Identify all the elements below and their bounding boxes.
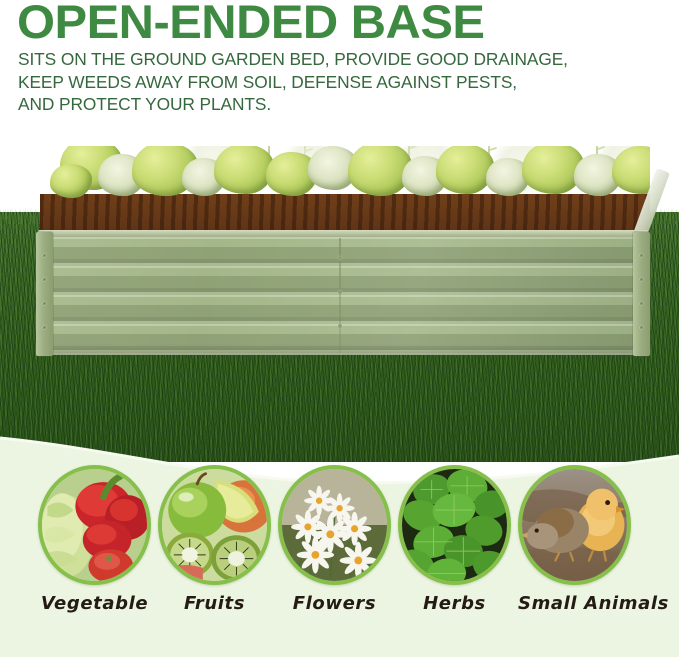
raised-garden-bed — [36, 230, 650, 360]
plant-foliage — [40, 146, 650, 236]
use-label: Vegetable — [38, 593, 151, 614]
uses-badge-row: Vegetable — [0, 465, 679, 657]
use-label: Fruits — [158, 593, 271, 614]
use-label: Herbs — [398, 593, 511, 614]
uses-panel: Vegetable — [0, 420, 679, 657]
flowers-icon — [278, 465, 391, 585]
use-label: Flowers — [278, 593, 391, 614]
planter-panel-seam — [339, 238, 341, 353]
vegetables-icon — [38, 465, 151, 585]
herbs-icon — [398, 465, 511, 585]
use-label: Small Animals — [518, 593, 631, 614]
product-feature-image: OPEN-ENDED BASE SITS ON THE GROUND GARDE… — [0, 0, 679, 657]
chicks-icon — [518, 465, 631, 585]
planter-corrugated-wall — [40, 237, 646, 355]
page-title: OPEN-ENDED BASE — [17, 0, 484, 45]
planter-corner-post-left — [36, 232, 53, 356]
garden-bed-interior — [40, 146, 650, 236]
header-block: OPEN-ENDED BASE SITS ON THE GROUND GARDE… — [0, 0, 679, 118]
product-photo — [0, 112, 679, 462]
fruits-icon — [158, 465, 271, 585]
page-subtitle: SITS ON THE GROUND GARDEN BED, PROVIDE G… — [18, 48, 568, 116]
planter-corner-post-right — [633, 232, 650, 356]
